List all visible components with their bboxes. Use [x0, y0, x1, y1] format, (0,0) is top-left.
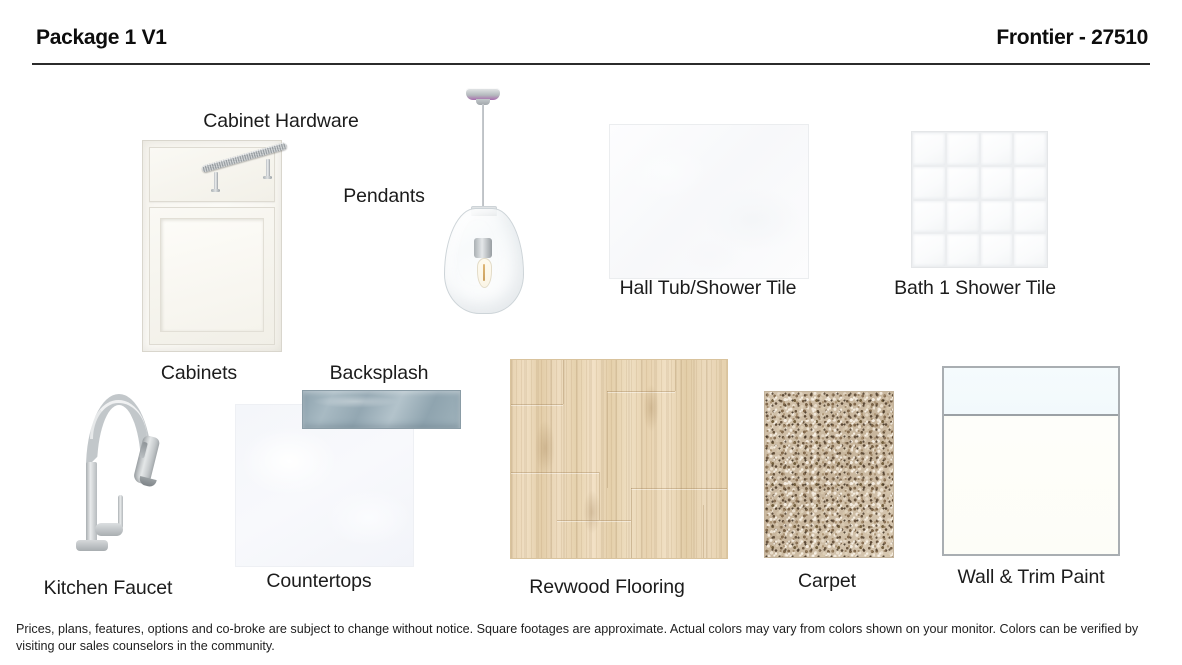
disclaimer-text: Prices, plans, features, options and co-…: [16, 621, 1154, 655]
cabinet-hardware-label: Cabinet Hardware: [203, 110, 359, 133]
revwood-flooring-label: Revwood Flooring: [529, 576, 685, 599]
mosaic-tile-icon[interactable]: [911, 131, 1048, 268]
tile-swatch-icon[interactable]: [609, 124, 809, 279]
bath-1-shower-tile-label: Bath 1 Shower Tile: [894, 277, 1056, 300]
kitchen-faucet-label: Kitchen Faucet: [44, 577, 173, 600]
backsplash-label: Backsplash: [330, 362, 429, 385]
wall-trim-paint-label: Wall & Trim Paint: [957, 566, 1104, 589]
countertops-label: Countertops: [266, 570, 371, 593]
carpet-swatch-icon[interactable]: [764, 391, 894, 558]
hall-tub-shower-tile-label: Hall Tub/Shower Tile: [620, 277, 797, 300]
pendants-label: Pendants: [343, 185, 425, 208]
pendant-light-icon[interactable]: [440, 88, 526, 314]
cabinets-label: Cabinets: [161, 362, 237, 385]
faucet-icon[interactable]: [68, 390, 184, 555]
wall-paint-band: [944, 418, 1118, 554]
carpet-label: Carpet: [798, 570, 856, 593]
paint-swatch-icon[interactable]: [942, 366, 1120, 556]
subway-tile-icon[interactable]: [302, 390, 461, 429]
wood-plank-icon[interactable]: [510, 359, 728, 559]
trim-paint-band: [944, 368, 1118, 416]
bar-pull-icon: [198, 140, 294, 196]
selection-board: Cabinet Hardware Cabinets Pendants: [0, 0, 1182, 665]
